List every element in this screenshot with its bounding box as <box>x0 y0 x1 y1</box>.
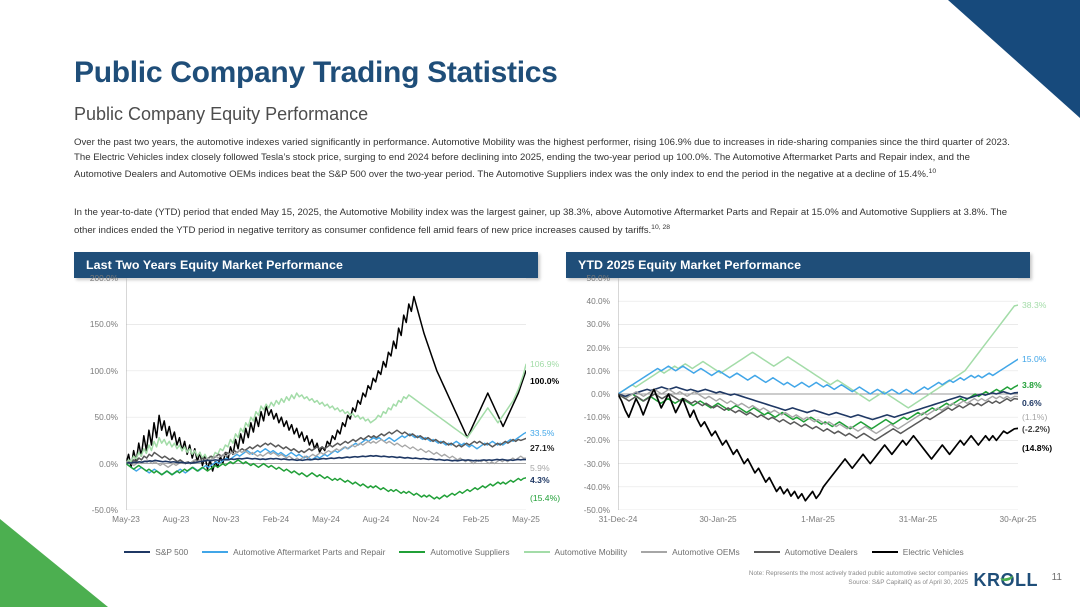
legend-swatch-icon <box>399 551 425 553</box>
legend-label: S&P 500 <box>155 547 188 557</box>
chart-legend: S&P 500Automotive Aftermarket Parts and … <box>74 547 1014 557</box>
x-axis-tick-label: 31-Mar-25 <box>899 514 937 524</box>
y-axis-tick-label: -40.0% <box>584 482 610 492</box>
x-axis-tick-label: Nov-23 <box>213 514 240 524</box>
legend-label: Automotive OEMs <box>672 547 740 557</box>
y-axis-tick-label: -10.0% <box>584 412 610 422</box>
source-note-line-1: Note: Represents the most actively trade… <box>749 569 968 578</box>
body-paragraph-2-footnote: 10, 28 <box>651 224 670 231</box>
top-right-corner-decoration <box>948 0 1080 118</box>
legend-label: Automotive Aftermarket Parts and Repair <box>233 547 385 557</box>
y-axis-tick-label: 40.0% <box>586 296 610 306</box>
legend-item[interactable]: S&P 500 <box>124 547 188 557</box>
legend-label: Automotive Mobility <box>555 547 628 557</box>
chart-series-line <box>618 387 1018 419</box>
kroll-logo-o: O <box>1000 570 1015 591</box>
legend-swatch-icon <box>641 551 667 553</box>
legend-swatch-icon <box>872 551 898 553</box>
x-axis-labels-right: 31-Dec-2430-Jan-251-Mar-2531-Mar-2530-Ap… <box>618 514 1018 530</box>
y-axis-tick-label: 30.0% <box>586 319 610 329</box>
chart-series-line <box>126 456 526 464</box>
x-axis-tick-label: 30-Apr-25 <box>1000 514 1037 524</box>
kroll-logo-part-2: LL <box>1015 570 1038 590</box>
chart-title-ytd-2025: YTD 2025 Equity Market Performance <box>566 252 1030 278</box>
legend-item[interactable]: Electric Vehicles <box>872 547 964 557</box>
chart-plot-area-last-two-years: 200.0%150.0%100.0%50.0%0.0%-50.0% May-23… <box>74 278 538 540</box>
legend-swatch-icon <box>202 551 228 553</box>
x-axis-labels-left: May-23Aug-23Nov-23Feb-24May-24Aug-24Nov-… <box>126 514 526 530</box>
y-axis-labels-right: 50.0%40.0%30.0%20.0%10.0%0.0%-10.0%-20.0… <box>566 278 614 510</box>
source-note-line-2: Source: S&P CapitalIQ as of April 30, 20… <box>749 578 968 587</box>
y-axis-tick-label: 150.0% <box>90 319 118 329</box>
x-axis-tick-label: 1-Mar-25 <box>801 514 835 524</box>
y-axis-tick-label: 0.0% <box>591 389 610 399</box>
legend-item[interactable]: Automotive OEMs <box>641 547 740 557</box>
x-axis-tick-label: 30-Jan-25 <box>699 514 736 524</box>
series-end-label: (-2.2%) <box>1022 424 1050 434</box>
series-end-label: 5.9% <box>530 463 550 473</box>
series-end-label: 0.6% <box>1022 398 1042 408</box>
legend-swatch-icon <box>124 551 150 553</box>
y-axis-tick-label: -20.0% <box>584 435 610 445</box>
legend-label: Automotive Suppliers <box>430 547 509 557</box>
line-chart-svg-right <box>618 278 1018 510</box>
y-axis-tick-label: -30.0% <box>584 459 610 469</box>
series-end-label: 15.0% <box>1022 354 1046 364</box>
x-axis-tick-label: May-23 <box>112 514 140 524</box>
body-paragraph-1: Over the past two years, the automotive … <box>74 136 1012 183</box>
kroll-logo: KROLL <box>973 570 1038 591</box>
series-end-label: 3.8% <box>1022 380 1042 390</box>
legend-item[interactable]: Automotive Mobility <box>524 547 628 557</box>
x-axis-tick-label: Aug-23 <box>163 514 190 524</box>
series-end-label: 33.5% <box>530 428 554 438</box>
body-paragraph-1-text: Over the past two years, the automotive … <box>74 137 1010 180</box>
series-end-label: 4.3% <box>530 475 550 485</box>
x-axis-tick-label: Aug-24 <box>363 514 390 524</box>
x-axis-tick-label: Nov-24 <box>413 514 440 524</box>
x-axis-tick-label: Feb-25 <box>463 514 489 524</box>
series-end-label: 100.0% <box>530 376 559 386</box>
chart-title-last-two-years: Last Two Years Equity Market Performance <box>74 252 538 278</box>
body-paragraph-1-footnote: 10 <box>929 168 937 175</box>
chart-plot-area-ytd-2025: 50.0%40.0%30.0%20.0%10.0%0.0%-10.0%-20.0… <box>566 278 1030 540</box>
series-end-label: 38.3% <box>1022 300 1046 310</box>
series-end-label: (1.1%) <box>1022 412 1047 422</box>
y-axis-labels-left: 200.0%150.0%100.0%50.0%0.0%-50.0% <box>74 278 122 510</box>
y-axis-tick-label: 10.0% <box>586 366 610 376</box>
slide-root: Public Company Trading Statistics Public… <box>0 0 1080 607</box>
x-axis-tick-label: Feb-24 <box>263 514 289 524</box>
chart-series-line <box>126 433 526 475</box>
legend-item[interactable]: Automotive Suppliers <box>399 547 509 557</box>
y-axis-tick-label: 100.0% <box>90 366 118 376</box>
source-note: Note: Represents the most actively trade… <box>749 569 968 587</box>
series-end-label: 27.1% <box>530 443 554 453</box>
body-paragraph-2-text: In the year-to-date (YTD) period that en… <box>74 207 1007 236</box>
x-axis-tick-label: May-25 <box>512 514 540 524</box>
chart-panel-last-two-years: Last Two Years Equity Market Performance… <box>74 252 538 542</box>
body-paragraph-2: In the year-to-date (YTD) period that en… <box>74 206 1012 238</box>
series-end-label: (15.4%) <box>530 493 560 503</box>
legend-swatch-icon <box>524 551 550 553</box>
y-axis-tick-label: 20.0% <box>586 343 610 353</box>
legend-swatch-icon <box>754 551 780 553</box>
legend-item[interactable]: Automotive Aftermarket Parts and Repair <box>202 547 385 557</box>
y-axis-tick-label: 50.0% <box>586 273 610 283</box>
chart-series-line <box>126 460 526 499</box>
chart-panel-ytd-2025: YTD 2025 Equity Market Performance 50.0%… <box>566 252 1030 542</box>
line-chart-svg-left <box>126 278 526 510</box>
y-axis-tick-label: 50.0% <box>94 412 118 422</box>
page-number: 11 <box>1052 572 1062 583</box>
series-end-label: 106.9% <box>530 359 559 369</box>
x-axis-tick-label: 31-Dec-24 <box>599 514 638 524</box>
legend-label: Automotive Dealers <box>785 547 858 557</box>
y-axis-tick-label: 0.0% <box>99 459 118 469</box>
legend-item[interactable]: Automotive Dealers <box>754 547 858 557</box>
chart-canvas-right <box>618 278 1018 510</box>
kroll-logo-part-1: KR <box>973 570 1000 590</box>
chart-canvas-left <box>126 278 526 510</box>
legend-label: Electric Vehicles <box>903 547 964 557</box>
series-end-label: (14.8%) <box>1022 443 1052 453</box>
x-axis-tick-label: May-24 <box>312 514 340 524</box>
page-title: Public Company Trading Statistics <box>74 56 558 90</box>
y-axis-tick-label: 200.0% <box>90 273 118 283</box>
page-subtitle: Public Company Equity Performance <box>74 104 368 125</box>
